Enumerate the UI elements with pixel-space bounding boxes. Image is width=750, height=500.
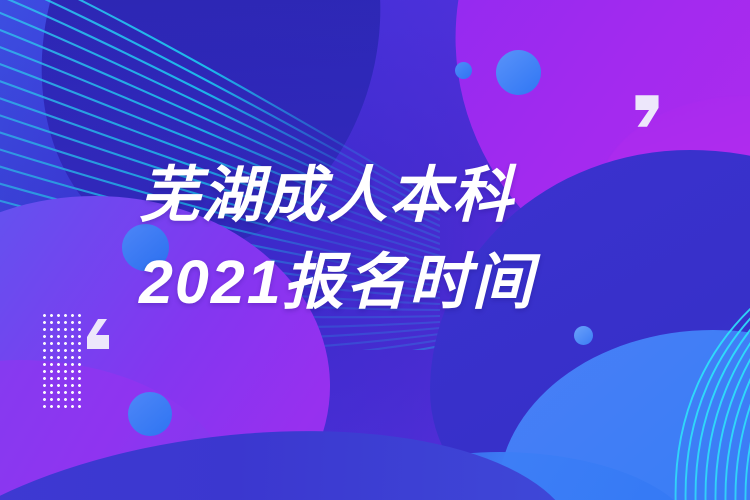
poster-headline: 芜湖成人本科 2021报名时间 [139, 152, 669, 326]
headline-line-1: 芜湖成人本科 [139, 152, 669, 239]
dot-grid-pattern [41, 312, 83, 410]
headline-line-2: 2021报名时间 [139, 239, 669, 326]
quote-mark-top-right-icon [633, 94, 660, 128]
accent-circle-large-top [496, 50, 541, 95]
accent-circle-lower-left [128, 392, 172, 436]
accent-circle-bottom-right [574, 326, 593, 345]
poster-canvas: 芜湖成人本科 2021报名时间 [0, 0, 750, 500]
accent-circle-small-top [455, 62, 472, 79]
quote-mark-bottom-left-icon [85, 318, 111, 350]
